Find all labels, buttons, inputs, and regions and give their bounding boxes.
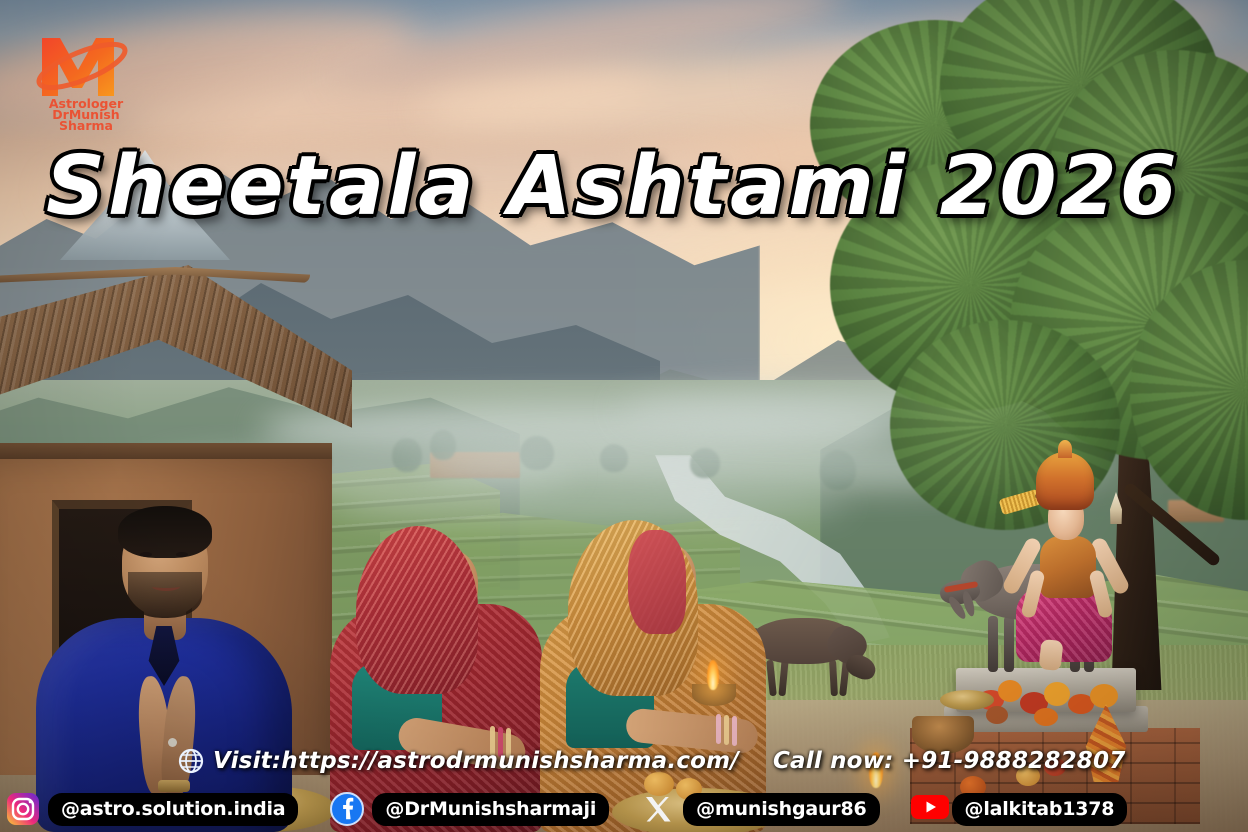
logo-wordmark: Astrologer DrMunish Sharma: [49, 96, 124, 132]
brass-bowl: [940, 690, 994, 710]
instagram-handle: @astro.solution.india: [48, 793, 298, 826]
social-facebook[interactable]: @DrMunishsharmaji: [330, 792, 609, 826]
phone-number[interactable]: Call now: +91-9888282807: [773, 748, 1125, 774]
smile: [152, 582, 180, 591]
x-twitter-icon: [641, 792, 675, 826]
poster-canvas: Astrologer DrMunish Sharma Sheetala Asht…: [0, 0, 1248, 832]
goddess-crown: [1036, 452, 1094, 510]
goddess-torso: [1040, 536, 1096, 598]
eye: [176, 552, 188, 557]
social-instagram[interactable]: @astro.solution.india: [6, 792, 298, 826]
social-x-twitter[interactable]: @munishgaur86: [641, 792, 879, 826]
social-youtube[interactable]: @lalkitab1378: [910, 792, 1128, 826]
x-twitter-handle: @munishgaur86: [683, 793, 879, 826]
veil-border: [628, 530, 686, 634]
facebook-handle: @DrMunishsharmaji: [372, 793, 609, 826]
astrologer-portrait: [36, 500, 306, 832]
youtube-handle: @lalkitab1378: [952, 793, 1128, 826]
goddess-sheetala: [1006, 452, 1126, 668]
sheetala-mata-shrine: [930, 440, 1180, 770]
goddess-legs: [1038, 639, 1063, 671]
finger-ring: [168, 738, 177, 747]
hair: [118, 506, 212, 558]
kalash-attribute: [1106, 492, 1126, 524]
website-url: Visit:https://astrodrmunishsharma.com/: [213, 748, 739, 774]
diya-flame: [707, 660, 719, 690]
contact-row: Visit:https://astrodrmunishsharma.com/ C…: [178, 744, 1058, 778]
woman-worshipper-red: [330, 512, 550, 832]
website-link[interactable]: Visit:https://astrodrmunishsharma.com/: [178, 748, 739, 774]
youtube-icon: [910, 792, 944, 826]
poster-title: Sheetala Ashtami 2026: [46, 146, 1216, 228]
social-bar: @astro.solution.india @DrMunishsharmaji …: [0, 786, 1248, 832]
globe-icon: [178, 748, 204, 774]
facebook-icon: [330, 792, 364, 826]
instagram-icon: [6, 792, 40, 826]
red-veil: [356, 526, 478, 694]
svg-text:Sharma: Sharma: [59, 118, 113, 132]
hut-beam: [0, 443, 332, 459]
eye: [140, 552, 152, 557]
beard: [128, 572, 202, 618]
brand-logo[interactable]: Astrologer DrMunish Sharma: [26, 24, 146, 132]
broom-attribute: [999, 489, 1042, 515]
